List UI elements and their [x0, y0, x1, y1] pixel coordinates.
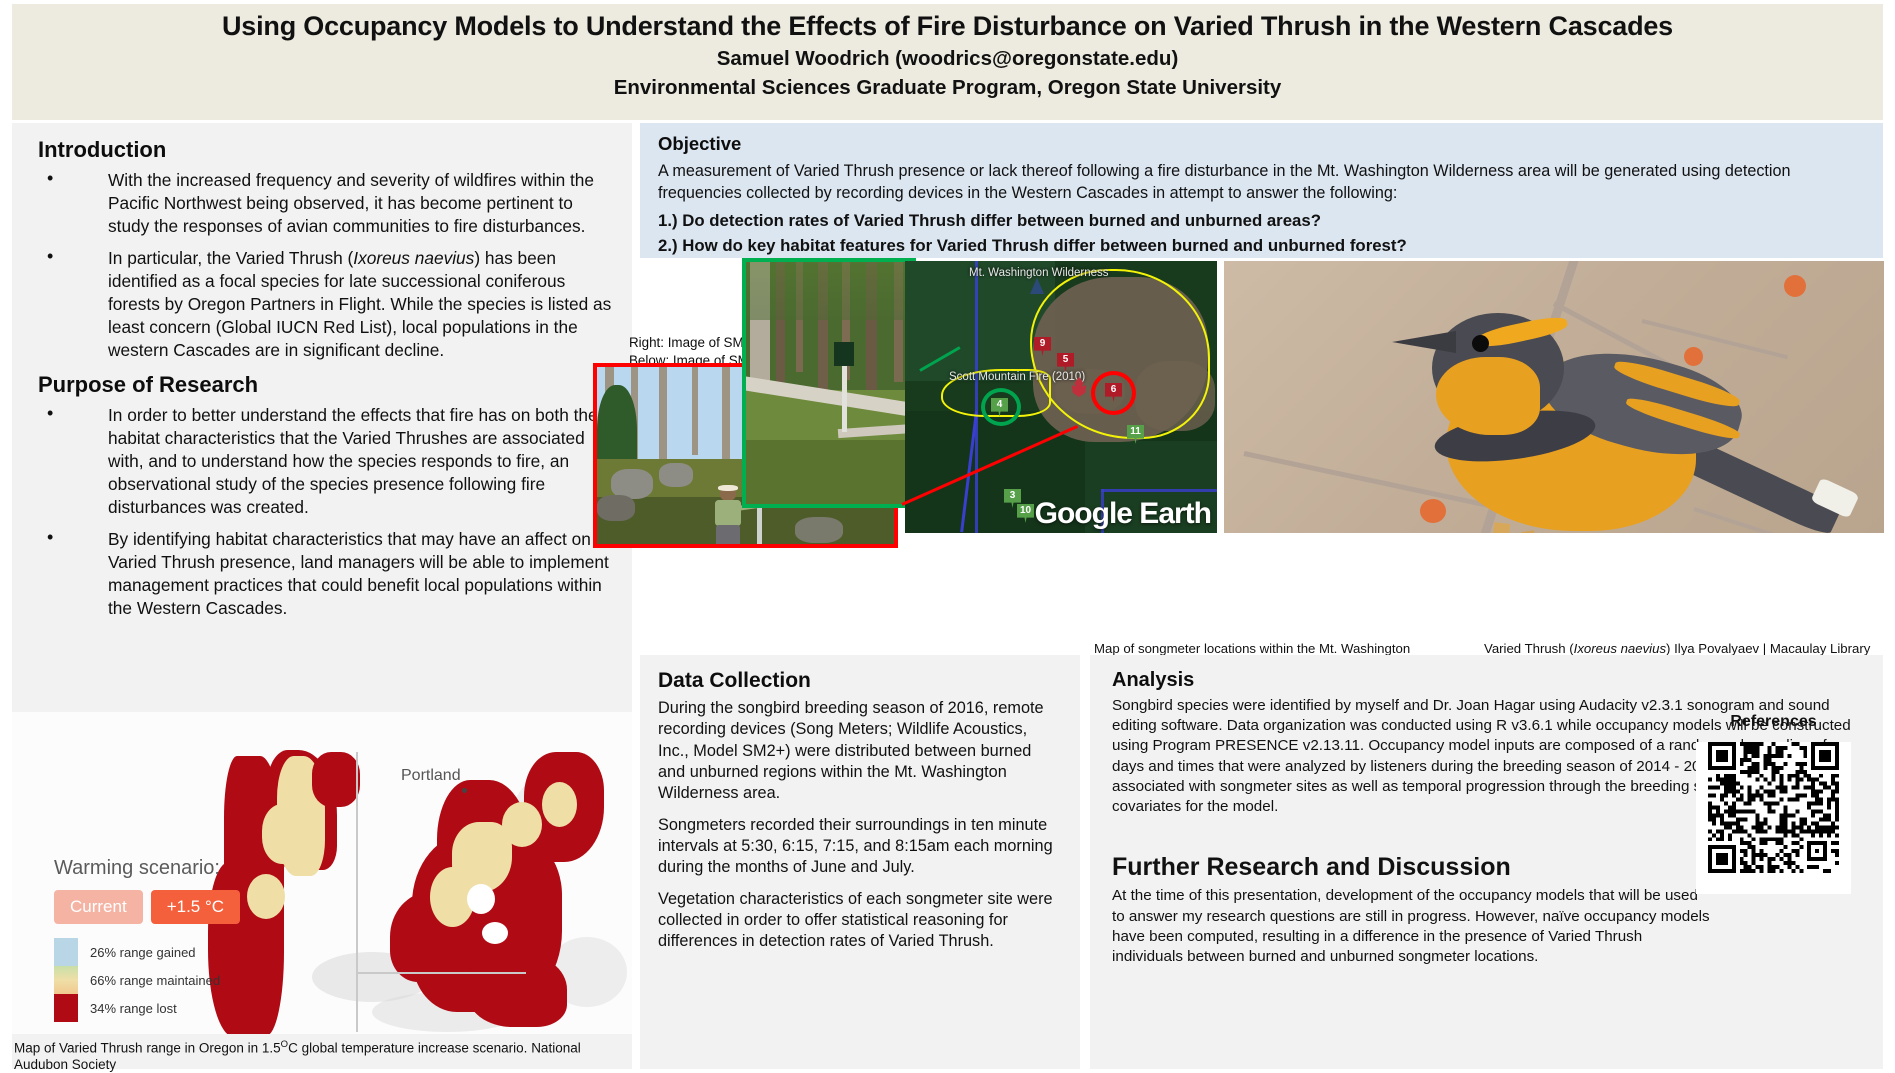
legend-swatch-lost [54, 994, 78, 1022]
data-collection-heading: Data Collection [658, 669, 1062, 693]
bird-caption-species: Ixoreus naevius [1574, 641, 1666, 656]
poster-author: Samuel Woodrich (woodrics@oregonstate.ed… [717, 46, 1179, 73]
data-collection-panel: Data Collection During the songbird bree… [640, 655, 1080, 1069]
introduction-bullet-1: With the increased frequency and severit… [108, 170, 594, 236]
poster-header: Using Occupancy Models to Understand the… [12, 4, 1883, 120]
audubon-range-map-figure: Portland Warming scenario: Current +1.5 … [12, 712, 632, 1069]
purpose-bullet-1: In order to better understand the effect… [108, 405, 598, 517]
warming-scenario-legend: Warming scenario: Current +1.5 °C 26% ra… [54, 857, 294, 1022]
references-block: References [1686, 713, 1861, 894]
photo-varied-thrush [1224, 261, 1884, 533]
purpose-bullet-list: In order to better understand the effect… [34, 404, 614, 620]
list-item: In particular, the Varied Thrush (Ixoreu… [34, 247, 614, 362]
warming-scenario-title: Warming scenario: [54, 857, 294, 880]
list-item: With the increased frequency and severit… [34, 169, 614, 238]
list-item: In order to better understand the effect… [34, 404, 614, 519]
objective-panel: Objective A measurement of Varied Thrush… [640, 123, 1883, 258]
scenario-button-group: Current +1.5 °C [54, 890, 294, 924]
references-qr-code[interactable] [1696, 742, 1851, 894]
legend-swatch-gained [54, 938, 78, 966]
list-item: By identifying habitat characteristics t… [34, 528, 614, 620]
analysis-panel: Analysis Songbird species were identifie… [1090, 655, 1883, 1069]
introduction-bullet-list: With the increased frequency and severit… [34, 169, 614, 362]
highlight-circle-sm6 [1091, 371, 1136, 415]
bird-caption-suffix: ) Ilya Povalyaev | Macaulay Library [1666, 641, 1870, 656]
legend-row-gained: 26% range gained [54, 938, 294, 966]
google-earth-watermark: Google Earth [1035, 497, 1211, 531]
audubon-map-caption: Map of Varied Thrush range in Oregon in … [14, 1039, 630, 1073]
portland-dot [462, 788, 467, 793]
photo-strip: Right: Image of SM 4 outside of the burn… [604, 258, 1883, 535]
purpose-heading: Purpose of Research [38, 372, 614, 398]
introduction-bullet-2: In particular, the Varied Thrush (Ixoreu… [108, 248, 611, 360]
bird-caption-prefix: Varied Thrush ( [1484, 641, 1574, 656]
legend-row-lost: 34% range lost [54, 994, 294, 1022]
audubon-caption-degree: O [281, 1039, 288, 1050]
legend-swatch-maintained [54, 966, 78, 994]
scenario-plus15-button[interactable]: +1.5 °C [151, 890, 240, 924]
introduction-heading: Introduction [38, 137, 614, 163]
qr-code-canvas [1708, 742, 1839, 873]
objective-question-1: 1.) Do detection rates of Varied Thrush … [658, 211, 1867, 231]
poster-affiliation: Environmental Sciences Graduate Program,… [614, 75, 1282, 102]
objective-heading: Objective [658, 133, 1867, 155]
highlight-circle-sm4 [981, 388, 1021, 426]
data-collection-paragraph-3: Vegetation characteristics of each songm… [658, 889, 1062, 953]
audubon-caption-prefix: Map of Varied Thrush range in Oregon in … [14, 1041, 281, 1056]
further-research-body: At the time of this presentation, develo… [1112, 886, 1712, 967]
legend-row-maintained: 66% range maintained [54, 966, 294, 994]
fire-label: Scott Mountain Fire (2010) [949, 371, 1085, 383]
photo-sm4-unburned-area [742, 258, 916, 508]
objective-question-2: 2.) How do key habitat features for Vari… [658, 236, 1867, 256]
scenario-current-button[interactable]: Current [54, 890, 143, 924]
references-heading: References [1686, 713, 1861, 731]
objective-body: A measurement of Varied Thrush presence … [658, 160, 1867, 204]
analysis-heading: Analysis [1112, 669, 1861, 692]
poster-title: Using Occupancy Models to Understand the… [222, 10, 1673, 44]
data-collection-paragraph-2: Songmeters recorded their surroundings i… [658, 815, 1062, 879]
google-earth-songmeter-map: Mt. Washington Wilderness Scott Mountain… [905, 261, 1217, 533]
legend-label-gained: 26% range gained [90, 945, 196, 960]
legend-label-lost: 34% range lost [90, 1001, 177, 1016]
data-collection-paragraph-1: During the songbird breeding season of 2… [658, 698, 1062, 805]
audubon-range-map-image: Portland Warming scenario: Current +1.5 … [12, 712, 632, 1034]
portland-label: Portland [401, 767, 461, 785]
legend-label-maintained: 66% range maintained [90, 973, 220, 988]
purpose-bullet-2: By identifying habitat characteristics t… [108, 529, 609, 618]
